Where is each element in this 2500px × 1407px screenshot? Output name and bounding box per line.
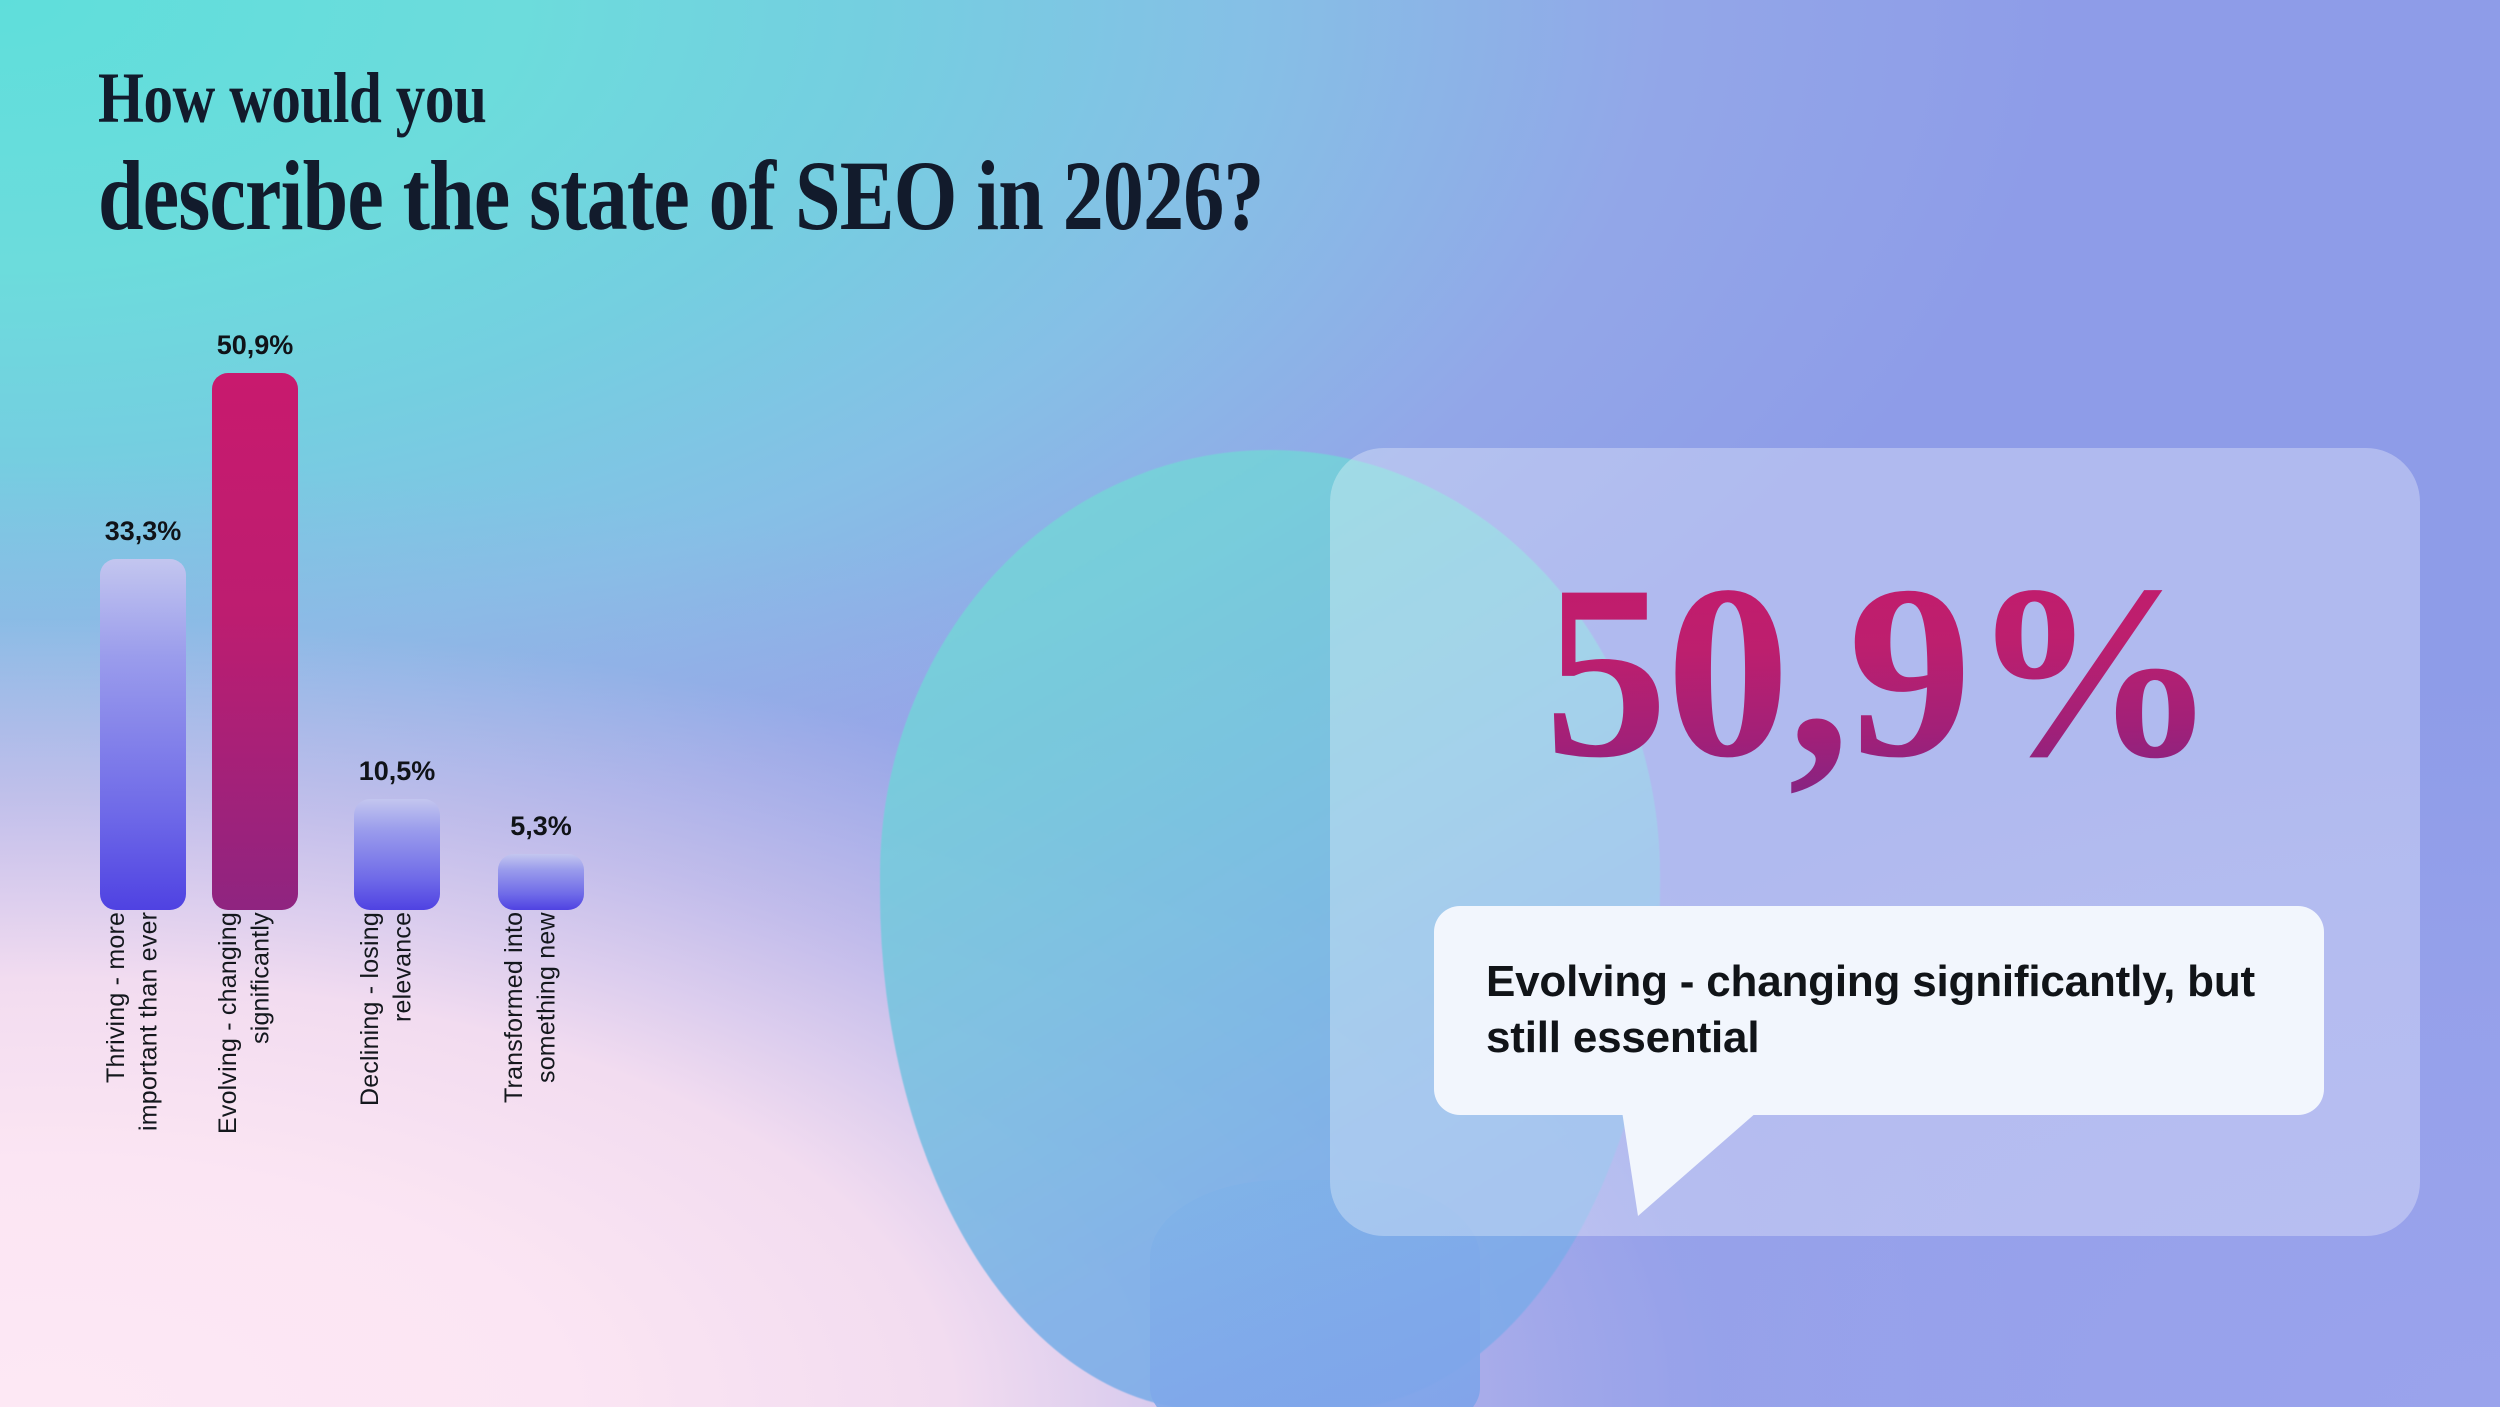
axis-label-transformed: Transformed into something new	[498, 912, 563, 1332]
bar-slot: 5,3%	[498, 854, 584, 910]
page-title: How would you describe the state of SEO …	[98, 62, 1519, 246]
axis-label-thriving: Thriving - more important than ever	[100, 912, 165, 1332]
chart-category-axis: Thriving - more important than ever Evol…	[100, 912, 740, 1332]
bar-chart: 33,3% 50,9% 10,5% 5,3%	[100, 330, 700, 910]
bar-value-label: 33,3%	[105, 516, 182, 547]
bar-declining	[354, 799, 440, 910]
bar-slot: 50,9%	[212, 373, 298, 910]
infographic-canvas: How would you describe the state of SEO …	[0, 0, 2500, 1407]
bar-value-label: 5,3%	[510, 811, 572, 842]
bar-value-label: 50,9%	[217, 330, 294, 361]
bar-value-label: 10,5%	[359, 756, 436, 787]
headline-line-2: describe the state of SEO in 2026?	[98, 146, 1264, 246]
bar-evolving	[212, 373, 298, 910]
axis-label-declining: Declining - losing relevance	[354, 912, 419, 1332]
callout-speech-bubble: Evolving - changing significantly, but s…	[1434, 906, 2324, 1115]
headline-line-1: How would you	[98, 62, 1264, 134]
speech-bubble-tail-icon	[1598, 1098, 1778, 1218]
callout-speech-bubble-text: Evolving - changing significantly, but s…	[1486, 954, 2272, 1067]
axis-label-evolving: Evolving - changing significantly	[212, 912, 277, 1332]
bar-transformed	[498, 854, 584, 910]
highlight-stat-value: 50,9%	[1450, 548, 2310, 796]
bar-slot: 33,3%	[100, 559, 186, 910]
bar-slot: 10,5%	[354, 799, 440, 910]
bar-thriving	[100, 559, 186, 910]
